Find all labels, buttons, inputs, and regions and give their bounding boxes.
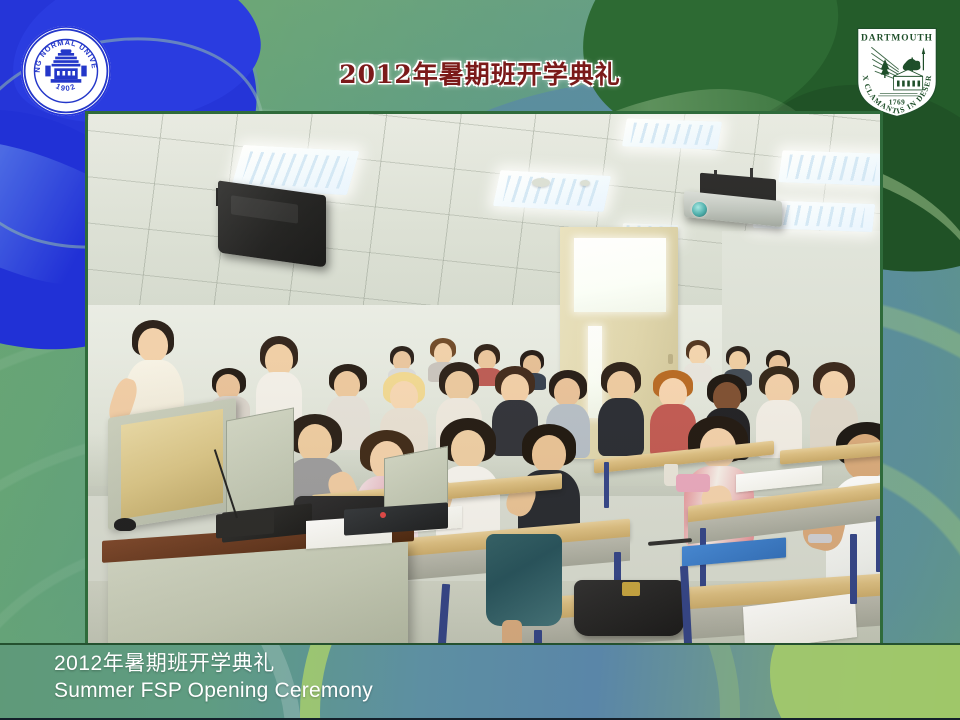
microphone-base [216,509,274,538]
door-glass-panel [574,238,666,312]
wall-speaker-icon [218,180,326,267]
mouse-icon [114,518,136,531]
bag-clasp-icon [622,582,640,596]
beijing-normal-university-seal-icon: BEIJING NORMAL UNIVERSITY 1902 [21,26,111,116]
classroom-photograph [88,114,880,645]
footer-title-chinese: 2012年暑期班开学典礼 [54,651,373,678]
desk-leg [876,516,880,572]
presentation-slide: BEIJING NORMAL UNIVERSITY 1902 [0,0,960,720]
monitor-screen [121,409,223,519]
leg [502,620,522,645]
footer-text-block: 2012年暑期班开学典礼 Summer FSP Opening Ceremony [54,651,373,705]
person-middle-row [598,362,644,456]
dartmouth-shield-icon: DARTMOUTH [854,25,940,119]
seated-student-skirt [486,534,562,626]
control-panel-led [380,512,386,518]
chair-leg [850,534,857,604]
ceiling-light-icon [622,118,722,149]
wristwatch-icon [808,534,832,543]
ceremony-photo-frame [85,111,883,648]
ceiling-light-icon [493,170,611,212]
face [138,328,168,362]
footer-title-english: Summer FSP Opening Ceremony [54,678,373,705]
slide-footer: 2012年暑期班开学典礼 Summer FSP Opening Ceremony [0,643,960,720]
projector-lens-icon [692,202,707,217]
desk-leg [604,462,609,508]
svg-text:DARTMOUTH: DARTMOUTH [861,33,933,43]
ceiling-light-icon [778,150,880,186]
pink-pouch [676,474,710,492]
door-knob-icon [668,354,673,364]
lectern-monitor [108,398,236,530]
smoke-detector-icon [532,178,550,187]
smoke-detector-icon [580,180,590,186]
